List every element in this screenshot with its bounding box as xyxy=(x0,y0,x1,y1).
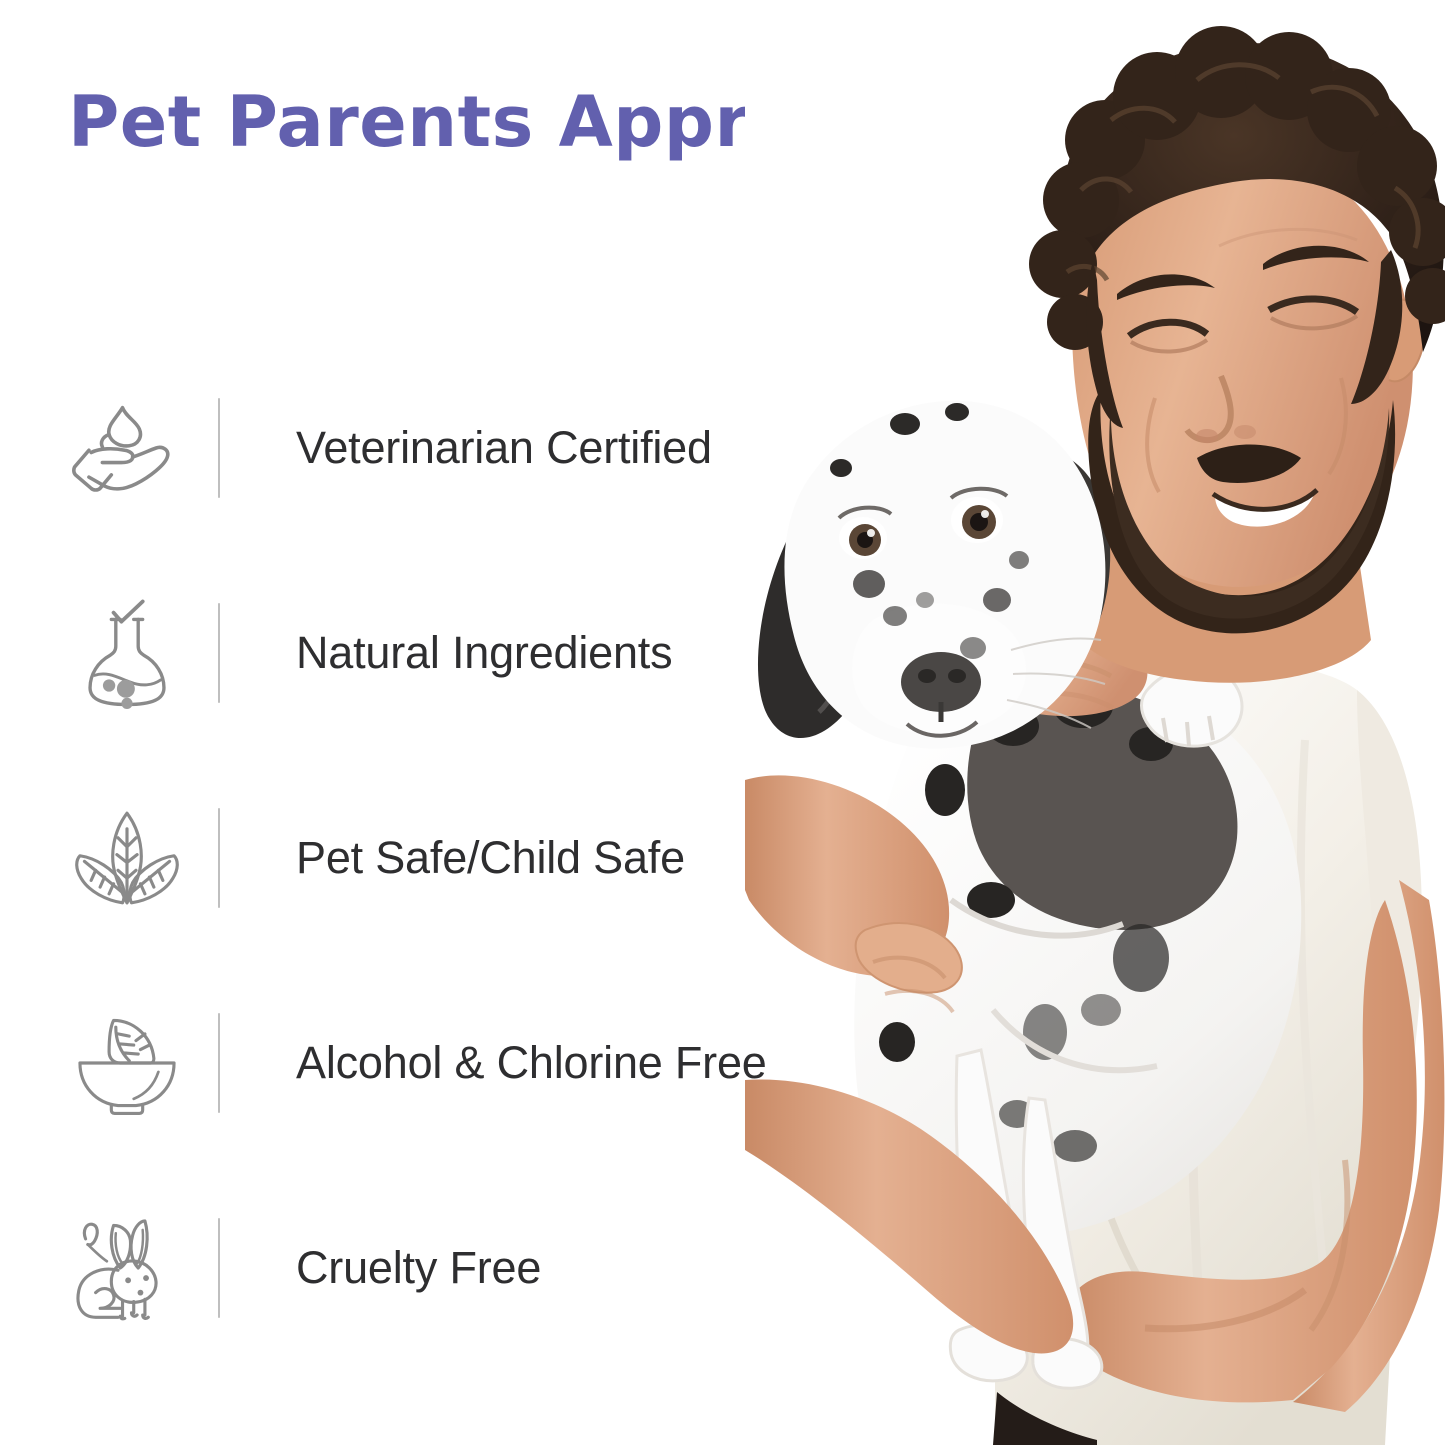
feature-row-pet-safe-child-safe: Pet Safe/Child Safe xyxy=(0,755,830,960)
flask-check-icon xyxy=(62,597,192,709)
feature-label: Cruelty Free xyxy=(296,1243,541,1293)
hand-holding-drop-icon xyxy=(62,392,192,504)
feature-divider xyxy=(218,1013,220,1113)
feature-label: Pet Safe/Child Safe xyxy=(296,833,685,883)
feature-divider xyxy=(218,1218,220,1318)
feature-divider xyxy=(218,603,220,703)
feature-divider xyxy=(218,398,220,498)
feature-row-natural-ingredients: Natural Ingredients xyxy=(0,550,830,755)
feature-divider xyxy=(218,808,220,908)
bowl-with-leaf-icon xyxy=(62,1007,192,1119)
hero-photo-man-with-dalmatian-puppy xyxy=(745,0,1445,1445)
feature-label: Natural Ingredients xyxy=(296,628,672,678)
feature-label: Alcohol & Chlorine Free xyxy=(296,1038,767,1088)
photo-illustration xyxy=(745,0,1445,1445)
pet-parents-approved-banner: Pet Parents Approved xyxy=(0,0,1445,1445)
rabbit-icon xyxy=(62,1212,192,1324)
feature-row-veterinarian-certified: Veterinarian Certified xyxy=(0,345,830,550)
feature-row-alcohol-chlorine-free: Alcohol & Chlorine Free xyxy=(0,960,830,1165)
feature-list: Veterinarian Certified Natural Ingredien… xyxy=(0,345,830,1370)
three-leaves-icon xyxy=(62,802,192,914)
feature-row-cruelty-free: Cruelty Free xyxy=(0,1165,830,1370)
feature-label: Veterinarian Certified xyxy=(296,423,712,473)
